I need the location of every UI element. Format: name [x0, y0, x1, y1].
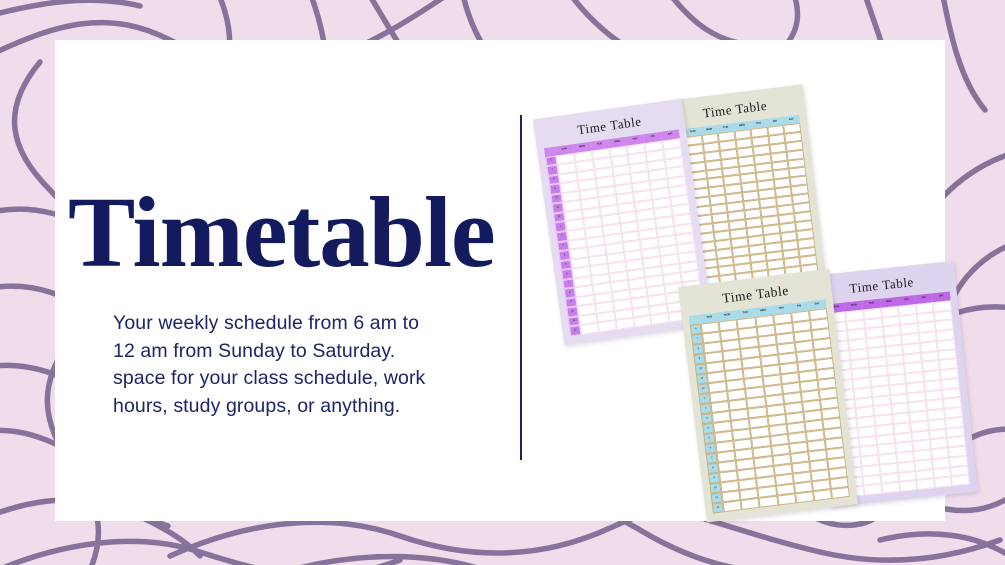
slide-canvas: Timetable Your weekly schedule from 6 am…	[0, 0, 1005, 565]
description-line-1: Your weekly schedule from 6 am to	[113, 310, 485, 338]
timetable-slot-cell	[813, 489, 832, 501]
timetable-slot-cell	[951, 475, 970, 487]
page-title: Timetable	[68, 182, 508, 283]
timetable-slot-cell	[795, 491, 814, 503]
timetable-slot-cell	[651, 313, 670, 325]
vertical-divider	[520, 115, 522, 460]
timetable-grid: SUNMONTUEWEDTHUFRISAT6789101112123456789…	[689, 299, 850, 513]
timetable-slot-cell	[633, 315, 652, 327]
description-line-3: space for your class schedule, work	[113, 365, 485, 393]
timetable-slot-cell	[777, 493, 796, 505]
timetable-slot-cell	[864, 484, 883, 496]
description-text: Your weekly schedule from 6 am to 12 am …	[113, 310, 485, 421]
timetable-slot-cell	[615, 318, 634, 330]
description-line-4: hours, study groups, or anything.	[113, 393, 485, 421]
timetable-slot-cell	[934, 477, 953, 489]
timetable-slot-cell	[741, 498, 760, 510]
timetable-slot-cell	[598, 320, 617, 332]
timetable-slot-cell	[580, 323, 599, 335]
timetable-slot-cell	[881, 482, 900, 494]
timetable-sheet-bottom-left: Time Table SUNMONTUEWEDTHUFRISAT67891011…	[678, 269, 858, 523]
timetable-slot-cell	[831, 487, 850, 499]
timetable-slot-cell	[916, 478, 935, 490]
timetable-slot-cell	[759, 496, 778, 508]
timetable-slot-cell	[723, 500, 742, 512]
description-line-2: 12 am from Sunday to Saturday.	[113, 338, 485, 366]
timetable-slot-cell	[899, 480, 918, 492]
